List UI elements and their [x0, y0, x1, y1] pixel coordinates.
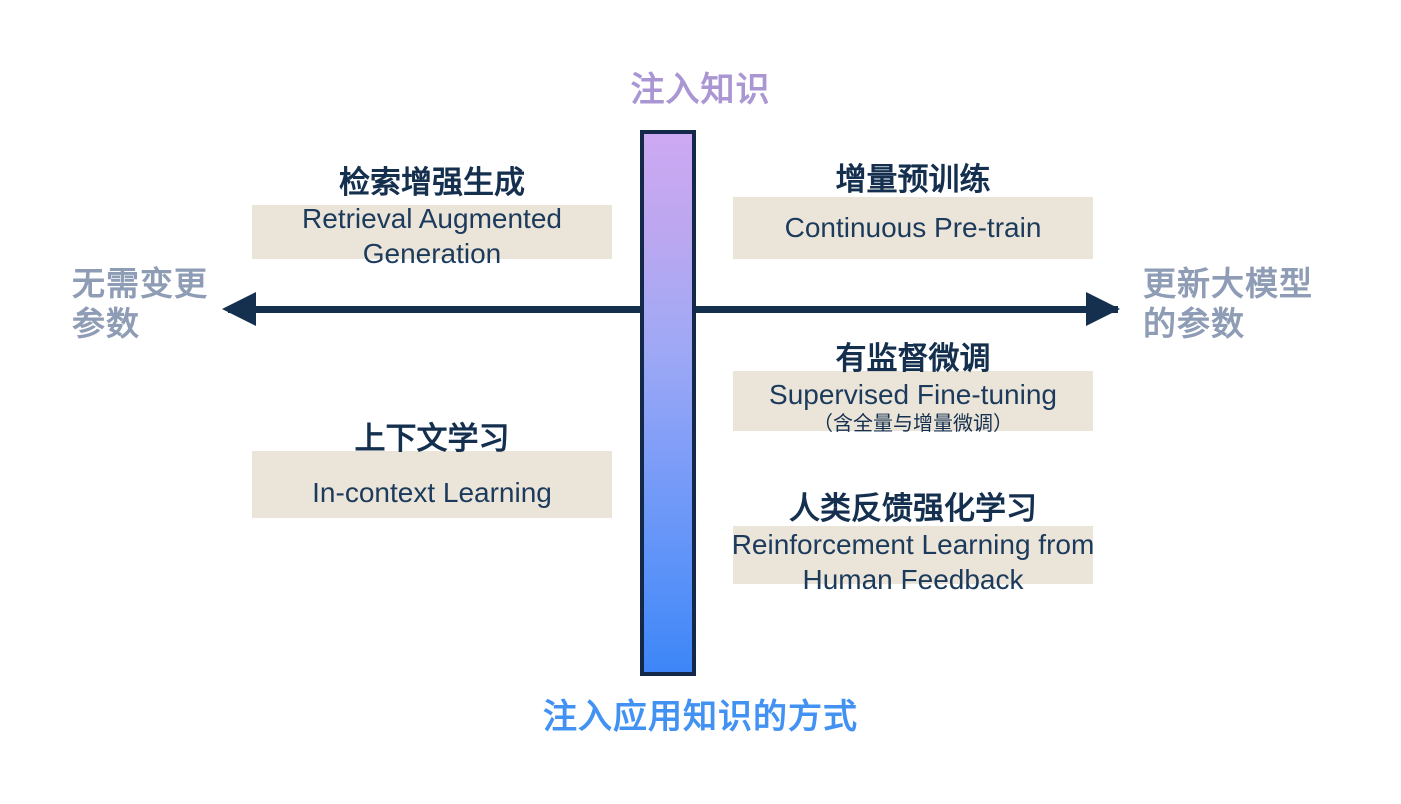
quadrant-item-supervised-finetuning-en: Supervised Fine-tuning — [713, 377, 1113, 412]
quadrant-item-icl: 上下文学习 In-context Learning — [232, 422, 632, 510]
quadrant-item-continuous-pretrain-en: Continuous Pre-train — [713, 198, 1113, 245]
axis-arrow-right-icon — [1086, 292, 1120, 326]
quadrant-item-supervised-finetuning-cn: 有监督微调 — [713, 342, 1113, 377]
right-axis-label: 更新大模型的参数 — [1143, 264, 1313, 343]
left-axis-label: 无需变更参数 — [72, 264, 222, 343]
quadrant-item-rlhf-en: Reinforcement Learning from Human Feedba… — [713, 527, 1113, 597]
bottom-title: 注入应用知识的方式 — [0, 689, 1401, 738]
quadrant-item-supervised-finetuning: 有监督微调 Supervised Fine-tuning （含全量与增量微调） — [713, 342, 1113, 436]
quadrant-item-rag-cn: 检索增强生成 — [232, 166, 632, 201]
top-title: 注入知识 — [0, 62, 1401, 111]
quadrant-item-supervised-finetuning-note: （含全量与增量微调） — [713, 412, 1113, 436]
quadrant-item-continuous-pretrain: 增量预训练 Continuous Pre-train — [713, 163, 1113, 245]
quadrant-item-rag-en: Retrieval Augmented Generation — [232, 201, 632, 271]
quadrant-item-rag: 检索增强生成 Retrieval Augmented Generation — [232, 166, 632, 271]
quadrant-item-continuous-pretrain-cn: 增量预训练 — [713, 163, 1113, 198]
quadrant-item-icl-cn: 上下文学习 — [232, 422, 632, 457]
knowledge-injection-gradient-bar — [640, 130, 696, 676]
quadrant-item-rlhf-cn: 人类反馈强化学习 — [713, 492, 1113, 527]
quadrant-item-rlhf: 人类反馈强化学习 Reinforcement Learning from Hum… — [713, 492, 1113, 597]
diagram-canvas: 注入知识 无需变更参数 更新大模型的参数 检索增强生成 Retrieval Au… — [0, 0, 1401, 804]
quadrant-item-icl-en: In-context Learning — [232, 457, 632, 510]
